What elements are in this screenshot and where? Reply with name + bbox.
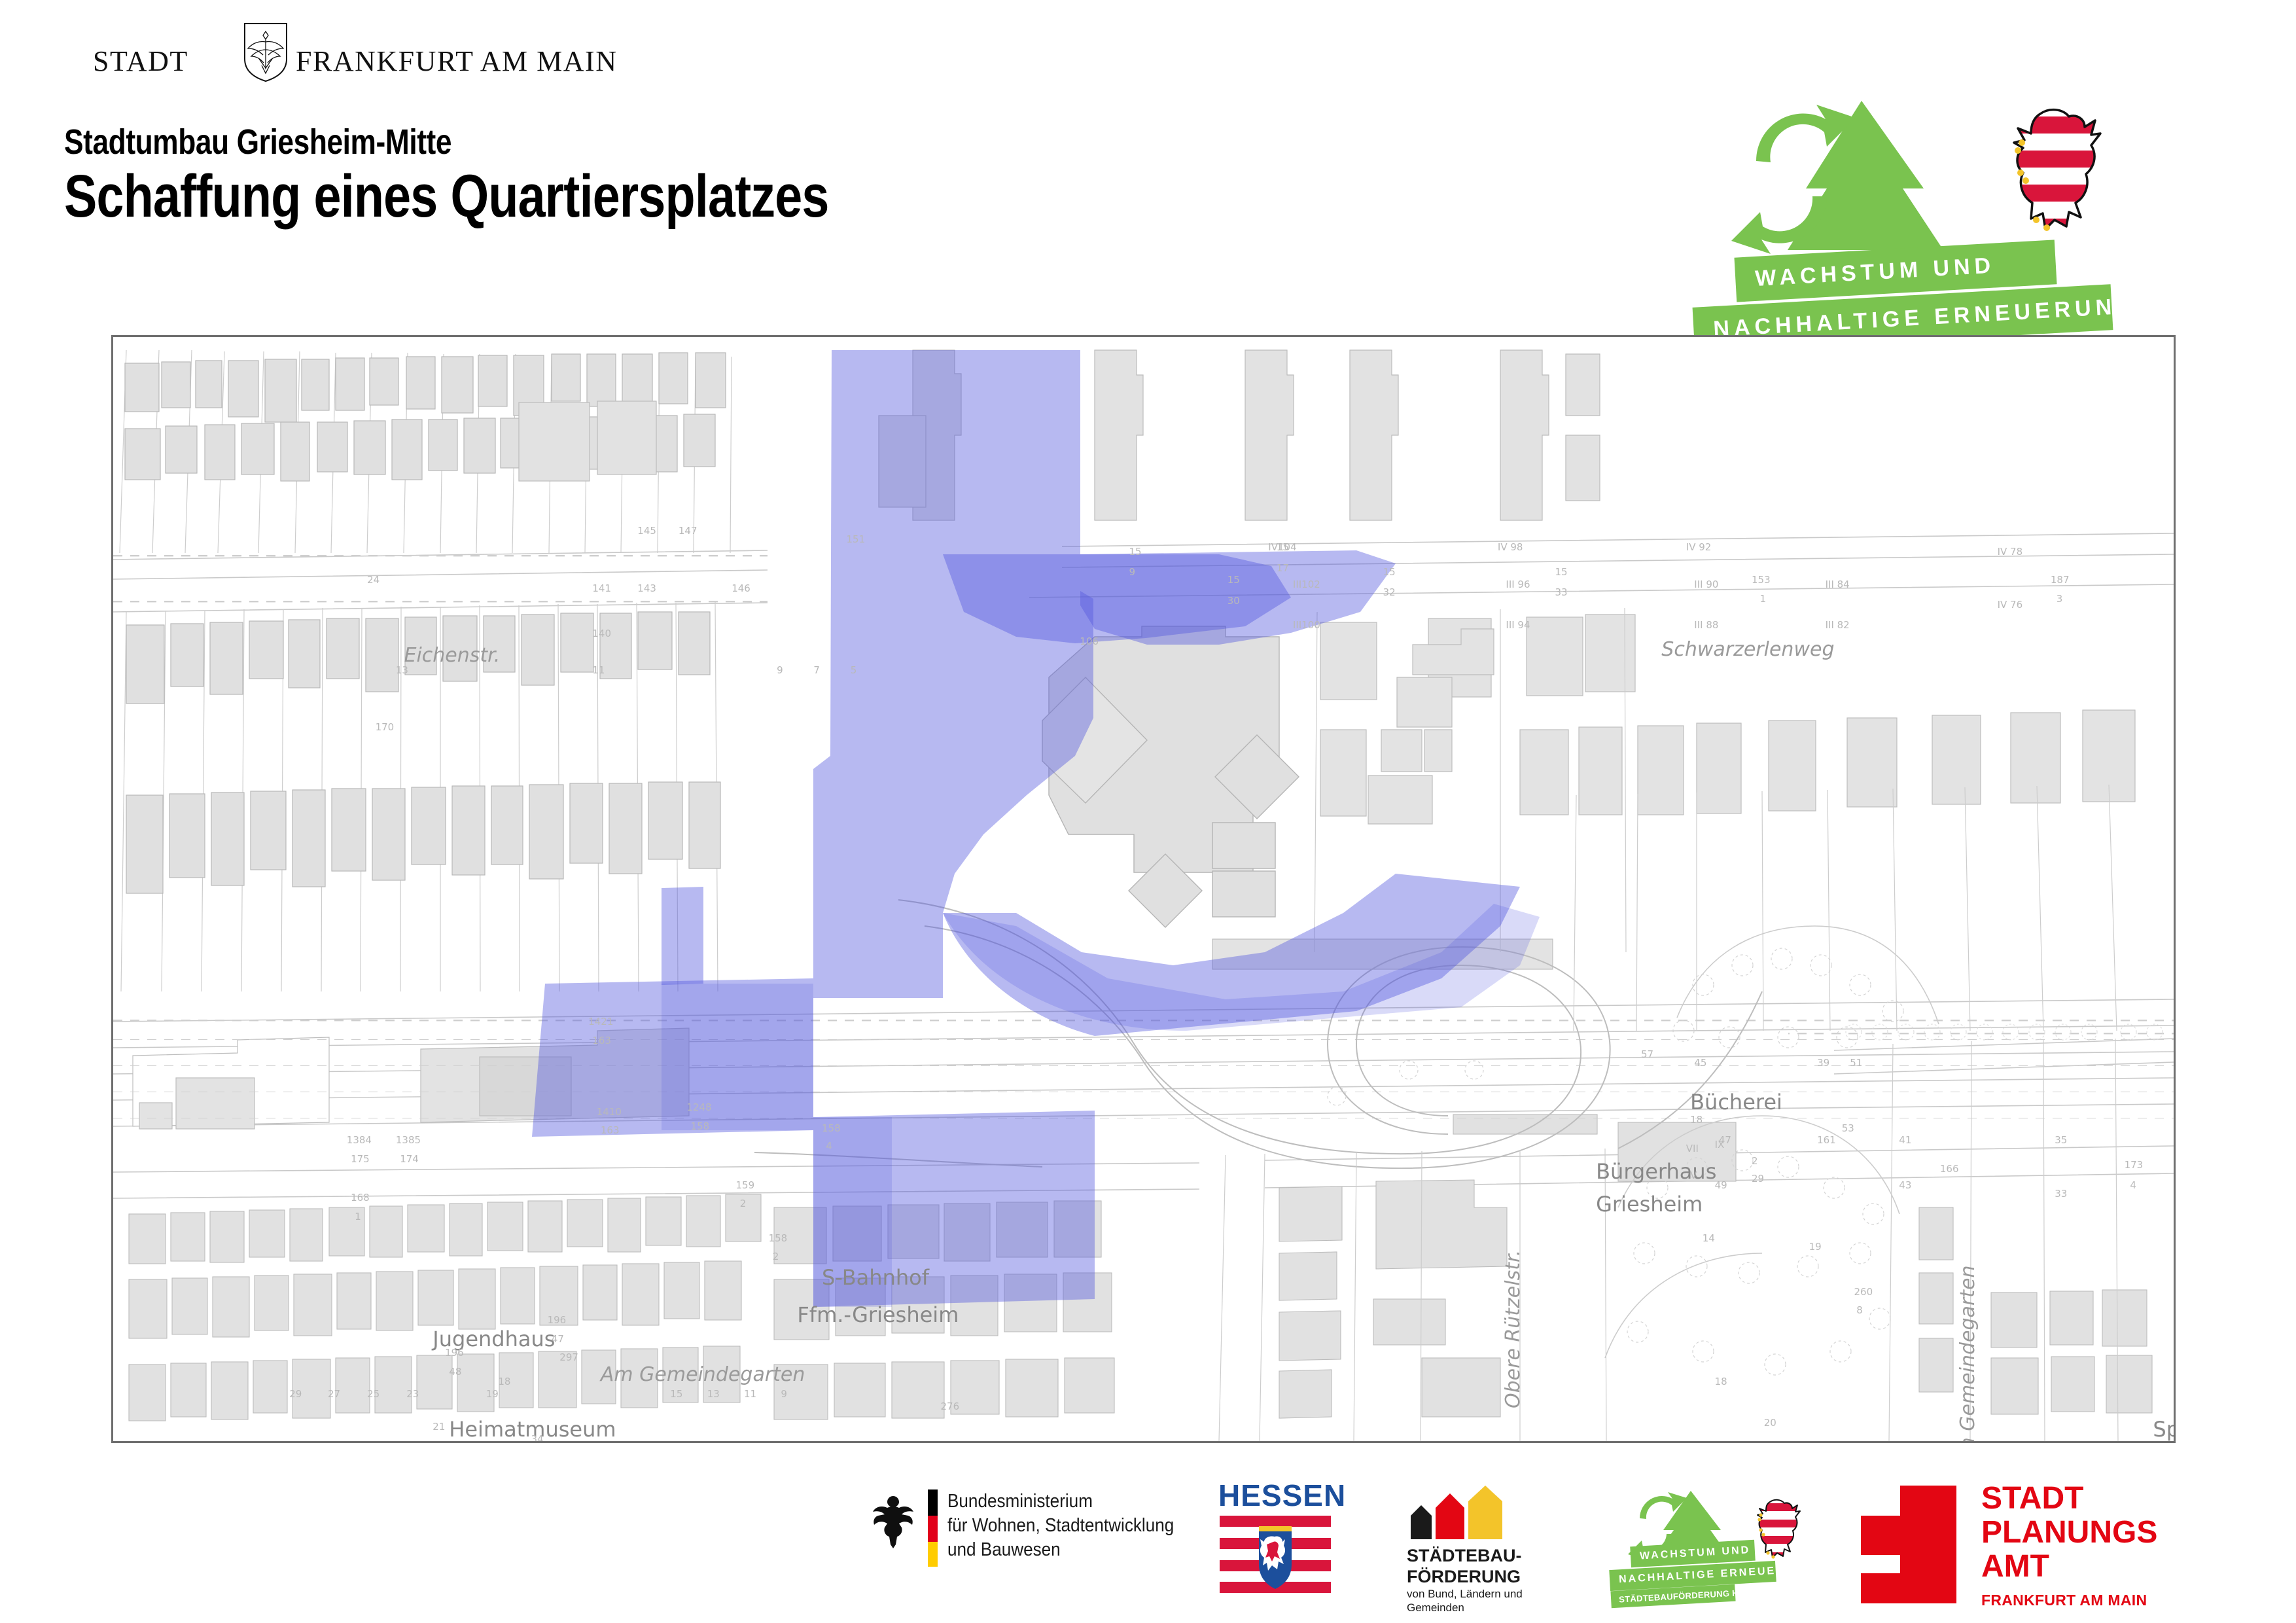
parcel-number: VII	[1686, 1143, 1699, 1154]
parcel-number: 175	[351, 1153, 370, 1165]
parcel-number: IV 92	[1686, 541, 1712, 553]
bmwsb-text: Bundesministerium für Wohnen, Stadtentwi…	[947, 1489, 1174, 1562]
parcel-number: 53	[1842, 1122, 1854, 1134]
parcel-number: 187	[2051, 574, 2070, 586]
parcel-number: 143	[637, 582, 656, 594]
frankfurt-eagle-crest-icon	[242, 22, 289, 82]
parcel-number: 35	[2055, 1134, 2067, 1146]
stadtplanungsamt-name: STADT PLANUNGS AMT	[1981, 1482, 2157, 1583]
parcel-number: IV104	[1268, 541, 1296, 553]
parcel-number: IV 76	[1998, 599, 2023, 611]
parcel-number: 13	[707, 1388, 720, 1400]
parcel-number: 27	[328, 1388, 340, 1400]
parcel-number: 51	[1850, 1057, 1862, 1069]
page-subtitle: Stadtumbau Griesheim-Mitte	[64, 122, 451, 162]
parcel-number: 33	[1555, 586, 1568, 598]
parcel-number: 147	[679, 525, 698, 537]
wachstum-und-nachhaltige-erneuerung-logo: WACHSTUM UND NACHHALTIGE ERNEUERUNG STÄD…	[1701, 111, 2159, 373]
parcel-number: 163	[592, 1035, 611, 1046]
bmwsb-line2: für Wohnen, Stadtentwicklung	[947, 1514, 1174, 1538]
parcel-number: 106	[1080, 635, 1099, 647]
staedtebau-heading: STÄDTEBAU- FÖRDERUNG	[1407, 1546, 1522, 1588]
place-label: Griesheim	[1596, 1192, 1703, 1217]
staedtebau-line2: FÖRDERUNG	[1407, 1567, 1522, 1588]
parcel-number: 2	[1752, 1155, 1758, 1167]
parcel-number: 166	[1940, 1163, 1959, 1175]
parcel-number: 4	[826, 1140, 832, 1152]
parcel-number: 2	[773, 1251, 779, 1262]
parcel-number: 146	[732, 582, 751, 594]
parcel-number: 45	[1694, 1057, 1706, 1069]
parcel-number: 29	[1752, 1173, 1764, 1185]
parcel-number: 14	[1703, 1232, 1715, 1244]
place-label: Ffm.-Griesheim	[797, 1302, 959, 1327]
parcel-number: 141	[592, 582, 611, 594]
parcel-number: IX	[1715, 1139, 1725, 1150]
parcel-number: 9	[777, 664, 783, 676]
parcel-number: 145	[637, 525, 656, 537]
parcel-number: 1384	[347, 1134, 372, 1146]
stadtplanungsamt-line1: STADT	[1981, 1482, 2157, 1516]
stadtplanungsamt-logo: STADT PLANUNGS AMT FRANKFURT AM MAIN	[1852, 1483, 2192, 1611]
parcel-number: 1421	[588, 1016, 613, 1027]
street-label: Am Gemeindegarten	[601, 1363, 805, 1386]
parcel-number: 21	[433, 1421, 445, 1433]
city-logo-text-left: STADT	[93, 45, 188, 78]
parcel-number: 15	[1227, 574, 1240, 586]
parcel-number: 33	[2055, 1188, 2067, 1200]
city-logo: STADT FRANKFURT AM MAIN	[93, 31, 512, 77]
street-label: Am Gemeindegarten	[1956, 1265, 1979, 1443]
parcel-number: III 82	[1826, 619, 1850, 631]
parcel-number: III 90	[1694, 579, 1718, 590]
hessen-coat-of-arms-icon	[1220, 1516, 1331, 1593]
parcel-number: 19	[1809, 1241, 1822, 1253]
parcel-number: 41	[1899, 1134, 1911, 1146]
parcel-number: 268	[433, 1441, 451, 1443]
map-canvas: Eichenstr.SchwarzerlenwegErzbergerstr.Am…	[113, 337, 2174, 1441]
stadtplanungsamt-mark-icon	[1852, 1486, 1956, 1603]
hessen-lion-icon	[2009, 105, 2113, 242]
bmwsb-logo: Bundesministerium für Wohnen, Stadtentwi…	[870, 1484, 1178, 1569]
parcel-number: 24	[367, 574, 380, 586]
parcel-number: 49	[1715, 1179, 1727, 1191]
parcel-number: 8	[1856, 1304, 1863, 1316]
parcel-number: 32	[1383, 586, 1396, 598]
tree-and-recycle-arrow-icon	[1727, 98, 2002, 262]
parcel-number: III 88	[1694, 619, 1718, 631]
parcel-number: 196	[445, 1347, 464, 1359]
parcel-number: III100	[1293, 619, 1320, 631]
funding-logo-bar: Bundesministerium für Wohnen, Stadtentwi…	[0, 1472, 2296, 1623]
parcel-number: III 96	[1506, 579, 1530, 590]
parcel-number: 15	[1383, 566, 1396, 578]
parcel-number: 15	[1555, 566, 1568, 578]
parcel-number: 168	[351, 1192, 370, 1204]
place-label: S-Bahnhof	[822, 1265, 929, 1290]
parcel-number: 158	[822, 1122, 841, 1134]
parcel-number: IV 78	[1998, 546, 2023, 558]
parcel-number: 140	[592, 628, 611, 639]
parcel-number: 15	[1129, 546, 1142, 558]
parcel-number: 158	[769, 1232, 788, 1244]
staedtebaufoerderung-logo: STÄDTEBAU- FÖRDERUNG von Bund, Ländern u…	[1407, 1483, 1583, 1614]
page-title: Schaffung eines Quartiersplatzes	[64, 162, 829, 231]
parcel-number: III102	[1293, 579, 1320, 590]
parcel-number: 20	[1764, 1417, 1776, 1429]
parcel-number: 1410	[597, 1106, 622, 1118]
wachstum-logo-small: WACHSTUM UND NACHHALTIGE ERNEUERUNG STÄD…	[1610, 1486, 1826, 1610]
parcel-number: 11	[744, 1388, 756, 1400]
parcel-number: 18	[1690, 1114, 1703, 1126]
parcel-number: 7	[813, 664, 820, 676]
parcel-number: 3	[2057, 593, 2063, 605]
parcel-number: 158	[691, 1120, 710, 1132]
place-label: Spielpl.	[2153, 1417, 2176, 1442]
page-header: STADT FRANKFURT AM MAIN Stadtumbau Gries…	[0, 0, 2296, 327]
staedtebau-subtext: von Bund, Ländern und Gemeinden	[1407, 1588, 1523, 1614]
parcel-number: 39	[1817, 1057, 1829, 1069]
hessen-lion-icon	[1755, 1497, 1806, 1563]
parcel-number: 5	[851, 664, 857, 676]
parcel-number: 1	[1760, 593, 1767, 605]
parcel-number: 297	[559, 1351, 578, 1363]
parcel-number: 57	[1641, 1048, 1653, 1060]
stadtplanungsamt-line2: PLANUNGS	[1981, 1516, 2157, 1550]
parcel-number: 18	[498, 1376, 510, 1387]
parcel-number: 9	[1129, 566, 1136, 578]
hessen-label: HESSEN	[1218, 1478, 1346, 1513]
place-label: Bürgerhaus	[1596, 1159, 1716, 1184]
parcel-number: 18	[1715, 1376, 1727, 1387]
parcel-number: 43	[1899, 1179, 1911, 1191]
parcel-number: 47	[552, 1333, 564, 1345]
parcel-number: 25	[367, 1388, 380, 1400]
parcel-number: 19	[486, 1388, 499, 1400]
parcel-number: 48	[449, 1366, 461, 1378]
street-label: Eichenstr.	[404, 644, 501, 667]
parcel-number: 11	[592, 664, 605, 676]
parcel-number: 4	[2130, 1179, 2136, 1191]
parcel-number: 161	[1817, 1134, 1836, 1146]
staedtebau-line3: von Bund, Ländern und	[1407, 1588, 1523, 1601]
bundesadler-icon	[870, 1493, 916, 1551]
parcel-number: 2	[740, 1198, 747, 1209]
parcel-number: III 94	[1506, 619, 1530, 631]
parcel-number: 163	[601, 1124, 620, 1136]
parcel-number: 34	[531, 1433, 544, 1444]
cadastral-map[interactable]: Eichenstr.SchwarzerlenwegErzbergerstr.Am…	[111, 335, 2176, 1443]
stadtplanungsamt-city: FRANKFURT AM MAIN	[1981, 1592, 2147, 1609]
parcel-number: 173	[2125, 1159, 2144, 1171]
parcel-number: 170	[376, 721, 395, 733]
bmwsb-line1: Bundesministerium	[947, 1489, 1174, 1514]
parcel-number: 1385	[396, 1134, 421, 1146]
parcel-number: 13	[396, 664, 408, 676]
parcel-number: 153	[1752, 574, 1771, 586]
street-label: Obere Rützelstr.	[1502, 1250, 1525, 1408]
staedtebau-line4: Gemeinden	[1407, 1601, 1523, 1615]
german-flag-bar-icon	[928, 1489, 938, 1567]
parcel-number: 29	[289, 1388, 302, 1400]
parcel-number: III 84	[1826, 579, 1850, 590]
stadtplanungsamt-line3: AMT	[1981, 1550, 2157, 1584]
parcel-number: IV 98	[1498, 541, 1523, 553]
parcel-number: V	[1690, 1169, 1697, 1181]
parcel-number: 276	[941, 1400, 960, 1412]
parcel-number: 174	[400, 1153, 419, 1165]
parcel-number: 1	[355, 1211, 361, 1222]
hessen-logo: HESSEN	[1217, 1478, 1335, 1592]
parcel-number: 1248	[686, 1101, 711, 1113]
staedtebau-line1: STÄDTEBAU-	[1407, 1546, 1522, 1567]
city-logo-text-right: FRANKFURT AM MAIN	[296, 45, 617, 78]
street-label: Schwarzerlenweg	[1661, 638, 1834, 661]
parcel-number: 15	[670, 1388, 682, 1400]
parcel-number: 9	[781, 1388, 787, 1400]
parcel-number: 30	[1227, 595, 1240, 607]
parcel-number: 159	[736, 1179, 755, 1191]
parcel-number: 23	[406, 1388, 419, 1400]
parcel-number: 151	[847, 533, 866, 545]
three-houses-icon	[1407, 1486, 1505, 1539]
quartiersplatz-highlight-area	[113, 337, 2174, 1441]
place-label: Bücherei	[1690, 1090, 1782, 1115]
parcel-number: 17	[1277, 562, 1289, 574]
parcel-number: 196	[548, 1314, 567, 1326]
bmwsb-line3: und Bauwesen	[947, 1538, 1174, 1562]
parcel-number: 260	[1854, 1286, 1873, 1298]
